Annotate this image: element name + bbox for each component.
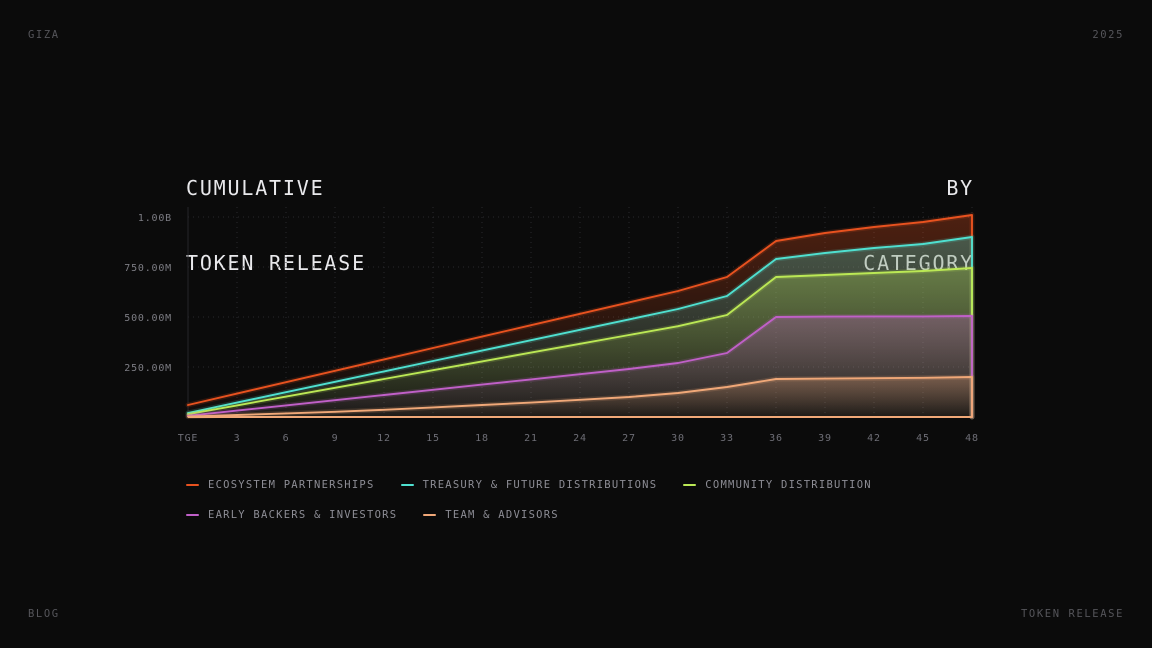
legend-label: TREASURY & FUTURE DISTRIBUTIONS — [423, 479, 658, 491]
svg-text:3: 3 — [234, 433, 241, 444]
legend-swatch-icon — [423, 514, 436, 516]
svg-text:39: 39 — [818, 433, 832, 444]
legend-swatch-icon — [683, 484, 696, 486]
legend-swatch-icon — [186, 514, 199, 516]
legend-item[interactable]: COMMUNITY DISTRIBUTION — [683, 479, 872, 491]
svg-text:18: 18 — [475, 433, 489, 444]
cumulative-token-release-chart: 250.00M500.00M750.00M1.00B TGE3691215182… — [0, 0, 1152, 648]
legend-swatch-icon — [186, 484, 199, 486]
chart-legend: ECOSYSTEM PARTNERSHIPS TREASURY & FUTURE… — [186, 470, 1006, 530]
svg-text:21: 21 — [524, 433, 538, 444]
legend-label: ECOSYSTEM PARTNERSHIPS — [208, 479, 375, 491]
svg-text:1.00B: 1.00B — [138, 213, 172, 224]
legend-row: EARLY BACKERS & INVESTORS TEAM & ADVISOR… — [186, 500, 1006, 530]
svg-text:6: 6 — [283, 433, 290, 444]
svg-text:9: 9 — [332, 433, 339, 444]
legend-row: ECOSYSTEM PARTNERSHIPS TREASURY & FUTURE… — [186, 470, 1006, 500]
svg-text:250.00M: 250.00M — [124, 363, 172, 374]
svg-text:36: 36 — [769, 433, 783, 444]
svg-text:30: 30 — [671, 433, 685, 444]
legend-label: EARLY BACKERS & INVESTORS — [208, 509, 397, 521]
svg-text:TGE: TGE — [178, 433, 198, 444]
svg-text:42: 42 — [867, 433, 881, 444]
legend-swatch-icon — [401, 484, 414, 486]
svg-text:33: 33 — [720, 433, 734, 444]
legend-item[interactable]: EARLY BACKERS & INVESTORS — [186, 509, 397, 521]
svg-text:27: 27 — [622, 433, 636, 444]
legend-label: COMMUNITY DISTRIBUTION — [705, 479, 872, 491]
legend-item[interactable]: TEAM & ADVISORS — [423, 509, 559, 521]
legend-item[interactable]: ECOSYSTEM PARTNERSHIPS — [186, 479, 375, 491]
x-axis-ticks: TGE36912151821242730333639424548 — [178, 433, 979, 444]
svg-text:48: 48 — [965, 433, 979, 444]
svg-text:500.00M: 500.00M — [124, 313, 172, 324]
svg-text:45: 45 — [916, 433, 930, 444]
svg-text:15: 15 — [426, 433, 440, 444]
svg-text:12: 12 — [377, 433, 391, 444]
svg-text:24: 24 — [573, 433, 587, 444]
token-release-chart-page: GIZA 2025 BLOG TOKEN RELEASE CUMULATIVE … — [0, 0, 1152, 648]
y-axis-ticks: 250.00M500.00M750.00M1.00B — [124, 213, 172, 374]
legend-item[interactable]: TREASURY & FUTURE DISTRIBUTIONS — [401, 479, 658, 491]
svg-text:750.00M: 750.00M — [124, 263, 172, 274]
legend-label: TEAM & ADVISORS — [445, 509, 559, 521]
